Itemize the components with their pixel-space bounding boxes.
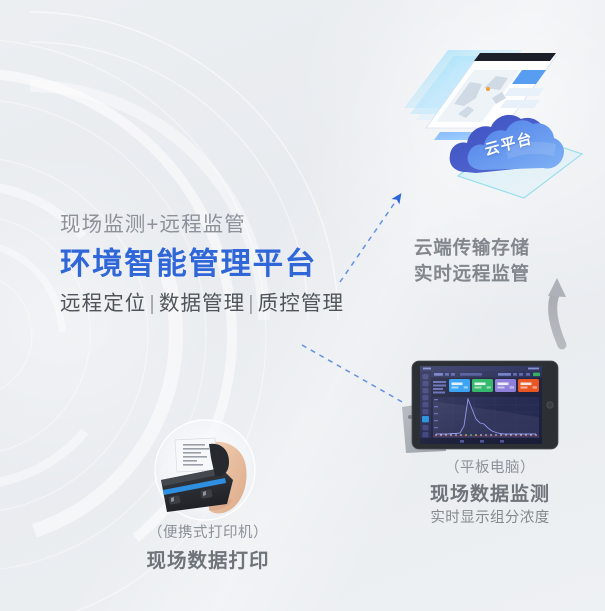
tablet-device-graphic bbox=[396, 355, 566, 455]
feature-item-1: 数据管理 bbox=[159, 292, 245, 315]
tablet-caption-subtitle: 实时显示组分浓度 bbox=[395, 508, 585, 528]
screen-glass-reflection bbox=[420, 366, 542, 444]
cloud-caption: 云端传输存储 实时远程监管 bbox=[414, 235, 594, 288]
printer-button-right bbox=[200, 489, 212, 499]
hero-eyebrow: 现场监测+远程监管 bbox=[60, 212, 360, 238]
connector-curved-return-arrow bbox=[553, 292, 562, 345]
portable-printer-graphic bbox=[141, 418, 271, 528]
printer-caption-title: 现场数据打印 bbox=[108, 548, 308, 574]
feature-separator-1: | bbox=[245, 292, 257, 315]
cloud-caption-line2: 实时远程监管 bbox=[414, 261, 594, 287]
hero-text-block: 现场监测+远程监管 环境智能管理平台 远程定位|数据管理|质控管理 bbox=[60, 212, 360, 318]
map-marker bbox=[486, 87, 490, 91]
infographic-canvas: 云平台 云端传输存储 实时远程监管 现场监测+远程监管 环境智能管理平台 远程定… bbox=[0, 0, 605, 611]
hero-headline: 环境智能管理平台 bbox=[60, 246, 360, 283]
feature-separator-0: | bbox=[146, 292, 158, 315]
cloud-platform-graphic bbox=[396, 36, 586, 201]
tablet-caption-title: 现场数据监测 bbox=[395, 482, 585, 508]
connector-printer-to-tablet bbox=[302, 345, 404, 403]
tablet-caption: （平板电脑） 现场数据监测 实时显示组分浓度 bbox=[395, 458, 585, 529]
printer-caption: （便携式打印机） 现场数据打印 bbox=[108, 523, 308, 574]
tablet-home-button bbox=[547, 402, 553, 408]
feature-item-0: 远程定位 bbox=[60, 292, 146, 315]
printer-device-label: （便携式打印机） bbox=[108, 523, 308, 545]
tablet-device-label: （平板电脑） bbox=[395, 458, 585, 480]
hero-feature-list: 远程定位|数据管理|质控管理 bbox=[60, 291, 360, 318]
printer-button-left bbox=[168, 495, 180, 505]
cloud-caption-line1: 云端传输存储 bbox=[414, 235, 594, 261]
feature-item-2: 质控管理 bbox=[258, 292, 344, 315]
stand-button bbox=[408, 415, 412, 419]
